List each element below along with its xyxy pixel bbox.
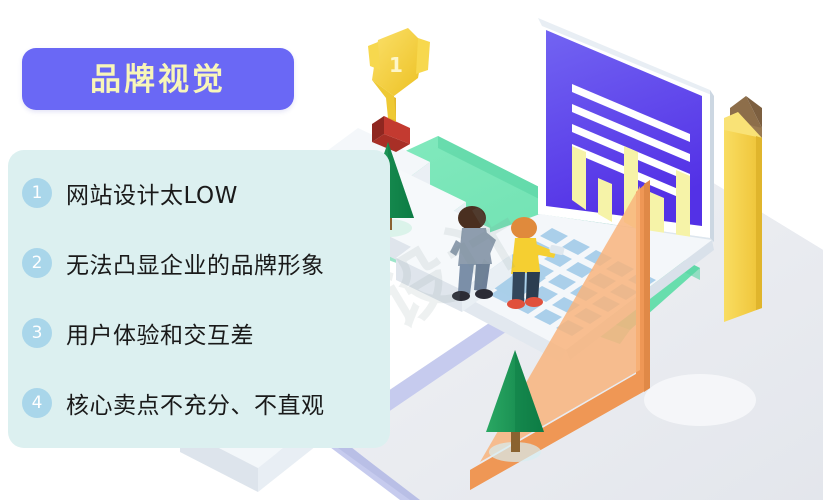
- list-item-label: 无法凸显企业的品牌形象: [66, 246, 325, 280]
- list-item-badge: 2: [22, 248, 52, 278]
- title-text: 品牌视觉: [90, 64, 226, 95]
- list-item-label: 核心卖点不充分、不直观: [66, 386, 325, 420]
- list-item-badge: 3: [22, 318, 52, 348]
- trophy: 1: [368, 28, 430, 152]
- list-item-label: 网站设计太LOW: [66, 176, 238, 210]
- list-item: 3 用户体验和交互差: [22, 316, 254, 350]
- list-item-badge: 4: [22, 388, 52, 418]
- pencil: [724, 96, 762, 322]
- title-badge: 品牌视觉: [22, 48, 294, 110]
- list-item-badge: 1: [22, 178, 52, 208]
- list-item: 2 无法凸显企业的品牌形象: [22, 246, 325, 280]
- list-item: 4 核心卖点不充分、不直观: [22, 386, 325, 420]
- list-item: 1 网站设计太LOW: [22, 176, 238, 210]
- poster-canvas: 1: [0, 0, 823, 500]
- list-item-label: 用户体验和交互差: [66, 316, 254, 350]
- svg-text:1: 1: [389, 53, 403, 77]
